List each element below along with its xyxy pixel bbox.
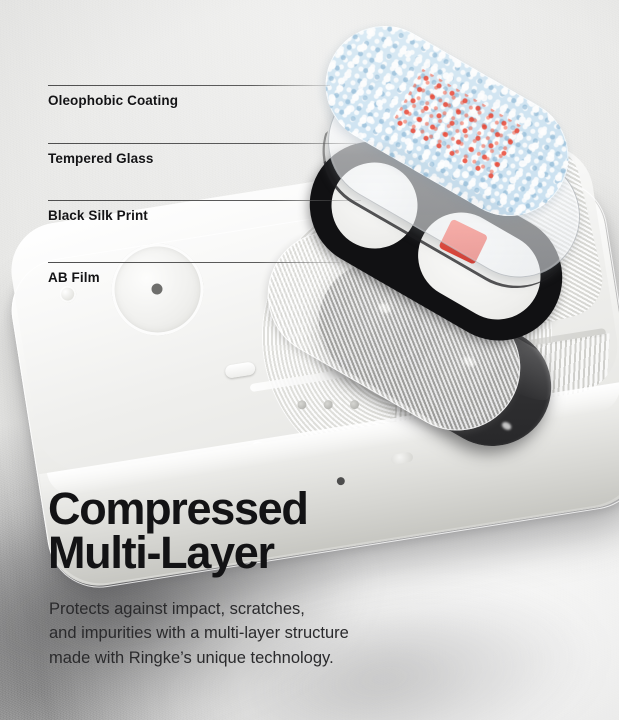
- body-line-1: Protects against impact, scratches,: [49, 597, 349, 621]
- callout-leader-line: [48, 262, 340, 263]
- headline-line-1: Compressed: [48, 487, 308, 531]
- headline-line-2: Multi-Layer: [48, 531, 308, 575]
- callout-label: AB Film: [48, 270, 100, 285]
- headline: Compressed Multi-Layer: [48, 487, 308, 574]
- callout-leader-line: [48, 85, 330, 86]
- callout-leader-line: [48, 143, 356, 144]
- callout-label: Oleophobic Coating: [48, 93, 178, 108]
- callout-label: Black Silk Print: [48, 208, 148, 223]
- callout-leader-line: [48, 200, 361, 201]
- body-description: Protects against impact, scratches, and …: [49, 597, 349, 670]
- body-line-2: and impurities with a multi-layer struct…: [49, 621, 349, 645]
- callout-group: Oleophobic Coating Tempered Glass Black …: [0, 0, 619, 300]
- product-infographic: Oleophobic Coating Tempered Glass Black …: [0, 0, 619, 720]
- callout-label: Tempered Glass: [48, 151, 153, 166]
- body-line-3: made with Ringke’s unique technology.: [49, 646, 349, 670]
